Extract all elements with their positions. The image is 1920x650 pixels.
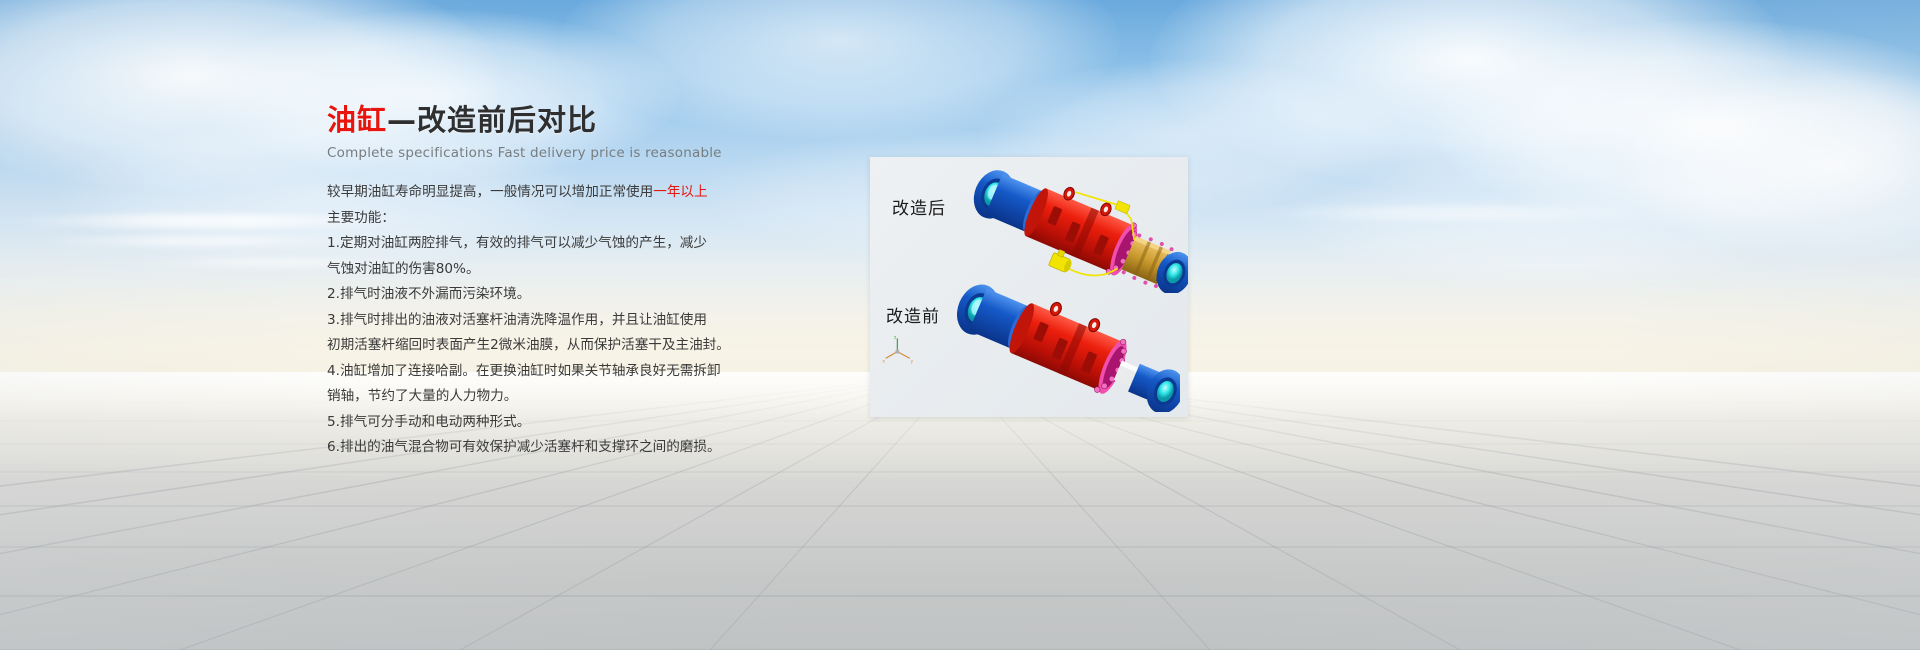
feature-line: 2.排气时油液不外漏而污染环境。	[327, 282, 727, 308]
feature-line: 4.油缸增加了连接哈副。在更换油缸时如果关节轴承良好无需拆卸	[327, 359, 727, 385]
cloud-shape	[1620, 70, 1920, 260]
cad-label-after: 改造后	[892, 194, 946, 219]
cad-label-before: 改造前	[886, 302, 940, 327]
cloud-shape	[1290, 150, 1810, 290]
cylinder-before-illustration	[940, 277, 1180, 412]
cloud-streak	[1240, 206, 1660, 220]
page-subtitle: Complete specifications Fast delivery pr…	[327, 145, 757, 161]
intro-highlight: 一年以上	[653, 184, 707, 200]
svg-text:x: x	[882, 359, 885, 364]
feature-line: 3.排气时排出的油液对活塞杆油清洗降温作用，并且让油缸使用	[327, 308, 727, 334]
cloud-shape	[1430, 20, 1920, 230]
features-heading: 主要功能：	[327, 206, 727, 232]
intro-line: 较早期油缸寿命明显提高，一般情况可以增加正常使用一年以上	[327, 180, 727, 206]
svg-text:z: z	[894, 335, 896, 339]
feature-line: 气蚀对油缸的伤害80%。	[327, 257, 727, 283]
page-title-rest: —改造前后对比	[387, 103, 597, 137]
svg-text:y: y	[911, 359, 914, 364]
cloud-shape	[1150, 0, 1790, 190]
cad-image-panel: 改造后 改造前 z x y	[870, 157, 1188, 417]
feature-line: 1.定期对油缸两腔排气，有效的排气可以减少气蚀的产生，减少	[327, 231, 727, 257]
page-title-highlight: 油缸	[327, 103, 387, 137]
intro-text: 较早期油缸寿命明显提高，一般情况可以增加正常使用	[327, 184, 653, 200]
feature-line: 销轴，节约了大量的人力物力。	[327, 384, 727, 410]
cylinder-after-illustration	[958, 163, 1188, 293]
feature-description: 较早期油缸寿命明显提高，一般情况可以增加正常使用一年以上 主要功能： 1.定期对…	[327, 180, 727, 461]
coordinate-axis-icon: z x y	[882, 335, 916, 365]
feature-line: 5.排气可分手动和电动两种形式。	[327, 410, 727, 436]
feature-line: 初期活塞杆缩回时表面产生2微米油膜，从而保护活塞干及主油封。	[327, 333, 727, 359]
page-title: 油缸—改造前后对比	[327, 104, 757, 137]
promo-banner: 油缸—改造前后对比 Complete specifications Fast d…	[0, 0, 1920, 650]
feature-line: 6.排出的油气混合物可有效保护减少活塞杆和支撑环之间的磨损。	[327, 435, 727, 461]
cloud-streak	[30, 236, 360, 246]
text-column: 油缸—改造前后对比 Complete specifications Fast d…	[327, 104, 757, 461]
